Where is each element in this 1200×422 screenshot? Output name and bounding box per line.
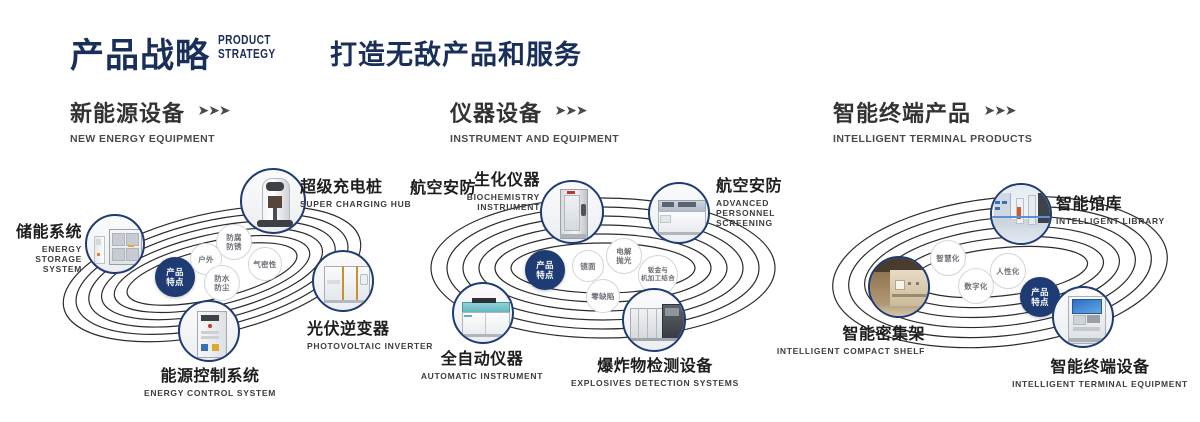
- node-label-intelligent-terminal-equipment: 智能终端设备 INTELLIGENT TERMINAL EQUIPMENT: [1000, 353, 1200, 389]
- node-super-charging-hub[interactable]: [240, 168, 306, 234]
- core-bubble-line2: 特点: [536, 270, 554, 280]
- cluster-instrument: 产品 特点 镜面 电解 抛光 钣金与 机加工结合 零缺陷 航空安防: [400, 0, 820, 422]
- feature-bubble-zero-defect: 零缺陷: [586, 279, 620, 313]
- feature-bubble-waterproof: 防水 防尘: [204, 265, 240, 301]
- pv-inverter-thumbnail: [314, 252, 372, 310]
- feature-bubble-line1: 智慧化: [936, 254, 959, 263]
- node-energy-control-system[interactable]: [178, 300, 240, 362]
- feature-bubble-line1: 零缺陷: [591, 292, 614, 301]
- biochem-scanner-thumbnail: [542, 182, 602, 242]
- terminal-kiosk-thumbnail: [1054, 288, 1112, 346]
- node-label-cn: 智能馆库: [1056, 190, 1196, 214]
- energy-storage-cabinet-thumbnail: [87, 216, 143, 272]
- node-label-energy-storage: 储能系统 ENERGY STORAGE SYSTEM: [0, 218, 82, 274]
- charging-pile-thumbnail: [242, 170, 304, 232]
- core-bubble-line1: 产品: [1031, 287, 1049, 297]
- feature-bubble-line2: 机加工结合: [641, 275, 675, 283]
- node-label-intelligent-compact-shelf: 智能密集架 INTELLIGENT COMPACT SHELF: [760, 320, 925, 356]
- core-bubble-instrument: 产品 特点: [525, 250, 565, 290]
- node-label-cn: 智能终端设备: [1000, 353, 1200, 377]
- node-label-en: BIOCHEMISTRY INSTRUMENT: [420, 192, 540, 212]
- node-intelligent-compact-shelf[interactable]: [868, 256, 930, 318]
- feature-bubble-line2: 抛光: [616, 256, 632, 265]
- node-label-biochemistry-instrument: 生化仪器 BIOCHEMISTRY INSTRUMENT: [420, 166, 540, 212]
- node-label-cn: 爆炸物检测设备: [555, 352, 755, 376]
- node-label-en: INTELLIGENT LIBRARY: [1056, 216, 1196, 226]
- feature-bubble-intelligent: 智慧化: [930, 240, 966, 276]
- node-intelligent-terminal-equipment[interactable]: [1052, 286, 1114, 348]
- node-pv-inverter[interactable]: [312, 250, 374, 312]
- feature-bubble-humanized: 人性化: [990, 253, 1026, 289]
- compact-shelf-thumbnail: [870, 258, 928, 316]
- poster-root: 产品战略 PRODUCT STRATEGY 打造无敌产品和服务 新能源设备 ➤➤…: [0, 0, 1200, 422]
- feature-bubble-line2: 防锈: [226, 242, 242, 251]
- control-cabinet-thumbnail: [180, 302, 238, 360]
- node-biochemistry-instrument[interactable]: [540, 180, 604, 244]
- feature-bubble-line1: 数字化: [964, 282, 987, 291]
- node-label-en: ENERGY CONTROL SYSTEM: [110, 388, 310, 398]
- node-label-en: ENERGY STORAGE SYSTEM: [0, 244, 82, 274]
- feature-bubble-line1: 防腐: [226, 233, 242, 242]
- node-label-automatic-instrument: 全自动仪器 AUTOMATIC INSTRUMENT: [392, 345, 572, 381]
- node-label-cn: 能源控制系统: [110, 362, 310, 386]
- core-bubble-line1: 产品: [536, 260, 554, 270]
- node-automatic-instrument[interactable]: [452, 282, 514, 344]
- node-label-cn: 储能系统: [0, 218, 82, 242]
- node-explosives-detection[interactable]: [622, 288, 686, 352]
- node-label-cn: 全自动仪器: [392, 345, 572, 369]
- node-label-en: INTELLIGENT TERMINAL EQUIPMENT: [1000, 379, 1200, 389]
- node-label-en: AUTOMATIC INSTRUMENT: [392, 371, 572, 381]
- screening-machine-thumbnail: [650, 184, 708, 242]
- auto-analyzer-thumbnail: [454, 284, 512, 342]
- feature-bubble-digital: 数字化: [958, 268, 994, 304]
- feature-bubble-mirror: 镜面: [572, 250, 604, 282]
- feature-bubble-line1: 人性化: [996, 267, 1019, 276]
- node-label-energy-control-system: 能源控制系统 ENERGY CONTROL SYSTEM: [110, 362, 310, 398]
- node-label-en: EXPLOSIVES DETECTION SYSTEMS: [555, 378, 755, 388]
- feature-bubble-line1: 户外: [198, 255, 214, 264]
- explosive-detector-thumbnail: [624, 290, 684, 350]
- cluster-new-energy: 产品 特点 户外 防腐 防锈 防水 防尘 气密性: [0, 0, 430, 422]
- cluster-intelligent-terminal: 智慧化 数字化 人性化 产品 特点: [800, 0, 1200, 422]
- node-label-en: INTELLIGENT COMPACT SHELF: [760, 346, 925, 356]
- node-label-cn: 生化仪器: [448, 166, 540, 190]
- node-personnel-screening[interactable]: [648, 182, 710, 244]
- feature-bubble-line1: 钣金与: [641, 267, 675, 275]
- feature-bubble-electropolishing: 电解 抛光: [606, 238, 642, 274]
- node-label-intelligent-library: 智能馆库 INTELLIGENT LIBRARY: [1056, 190, 1196, 226]
- feature-bubble-airtight: 气密性: [248, 247, 282, 281]
- feature-bubble-line1: 电解: [616, 247, 632, 256]
- core-bubble-line2: 特点: [166, 277, 184, 287]
- core-bubble-line2: 特点: [1031, 297, 1049, 307]
- node-label-cn: 智能密集架: [760, 320, 925, 344]
- core-bubble-new-energy: 产品 特点: [155, 257, 195, 297]
- node-energy-storage[interactable]: [85, 214, 145, 274]
- node-label-explosives-detection: 爆炸物检测设备 EXPLOSIVES DETECTION SYSTEMS: [555, 352, 755, 388]
- feature-bubble-line1: 气密性: [253, 260, 276, 269]
- core-bubble-line1: 产品: [166, 267, 184, 277]
- library-room-thumbnail: [992, 185, 1050, 243]
- feature-bubble-line2: 防尘: [214, 283, 230, 292]
- feature-bubble-line1: 镜面: [580, 262, 596, 271]
- feature-bubble-line1: 防水: [214, 274, 230, 283]
- node-intelligent-library[interactable]: [990, 183, 1052, 245]
